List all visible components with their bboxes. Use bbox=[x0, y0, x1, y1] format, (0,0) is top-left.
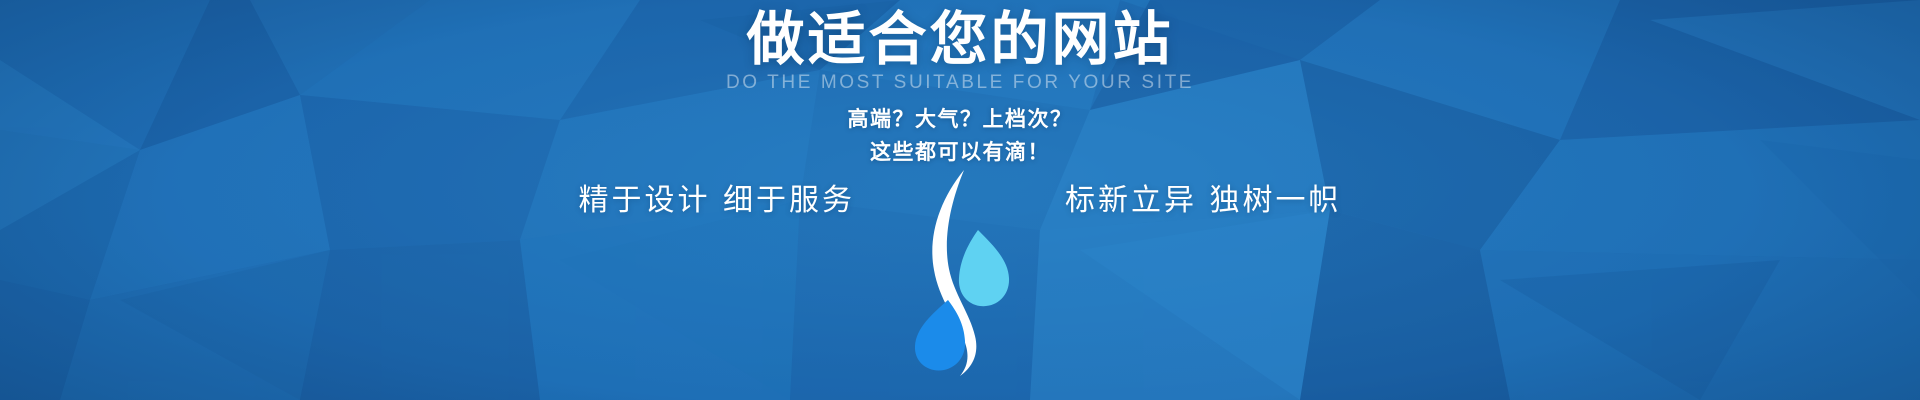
slogan-left: 精于设计 细于服务 bbox=[525, 182, 885, 220]
banner-headline: 做适合您的网站 bbox=[0, 8, 1920, 72]
leaf-swoosh-logo-icon bbox=[890, 168, 1030, 378]
hero-banner: 做适合您的网站 DO THE MOST SUITABLE FOR YOUR SI… bbox=[0, 0, 1920, 400]
pitch-line-1: 高端？大气？上档次？ bbox=[0, 103, 1920, 136]
banner-content: 做适合您的网站 DO THE MOST SUITABLE FOR YOUR SI… bbox=[0, 0, 1920, 400]
banner-subheadline-english: DO THE MOST SUITABLE FOR YOUR SITE bbox=[0, 72, 1920, 95]
logo-container bbox=[885, 168, 1035, 378]
slogan-right: 标新立异 独树一帜 bbox=[1035, 182, 1395, 220]
banner-slogan-row: 精于设计 细于服务 标新立异 独树一帜 bbox=[0, 182, 1920, 378]
banner-pitch-text: 高端？大气？上档次？ 这些都可以有滴！ bbox=[0, 103, 1920, 168]
pitch-line-2: 这些都可以有滴！ bbox=[0, 136, 1920, 169]
